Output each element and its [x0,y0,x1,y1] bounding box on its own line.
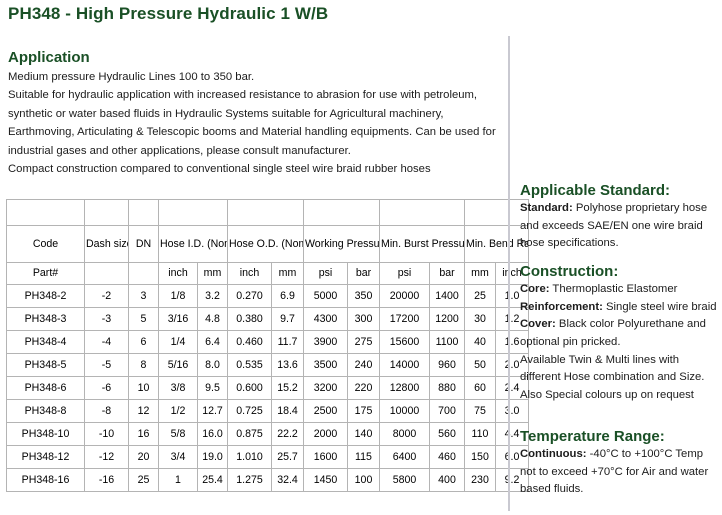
specification-table: Code Dash size DN Hose I.D. (Nom.) Hose … [6,199,529,492]
table-cell: -2 [85,285,129,308]
column-divider [508,36,510,511]
table-cell: 150 [465,446,496,469]
table-cell: 0.725 [228,400,272,423]
table-cell: 1200 [430,308,465,331]
applicable-standard-body: Standard: Polyhose proprietary hose and … [520,200,720,253]
table-cell: 1400 [430,285,465,308]
reinforcement-label: Reinforcement: [520,301,603,313]
table-cell: 5800 [380,469,430,492]
table-row: PH348-6-6103/89.50.60015.232002201280088… [7,377,529,400]
table-cell: 3200 [304,377,348,400]
table-cell: 1/2 [159,400,198,423]
table-cell: 3/4 [159,446,198,469]
table-cell: 5/8 [159,423,198,446]
construction-extra-1: Available Twin & Multi lines with differ… [520,352,720,387]
spacer-cell [380,200,465,226]
table-head: Code Dash size DN Hose I.D. (Nom.) Hose … [7,200,529,285]
table-cell: 6.4 [198,331,228,354]
construction-block: Construction: Core: Thermoplastic Elasto… [520,263,720,404]
reinforcement-text: Single steel wire braid [603,301,717,313]
table-cell: -4 [85,331,129,354]
table-row: PH348-8-8121/212.70.72518.42500175100007… [7,400,529,423]
table-row: PH348-10-10165/816.00.87522.220001408000… [7,423,529,446]
table-row: PH348-5-585/168.00.53513.635002401400096… [7,354,529,377]
table-cell: 0.535 [228,354,272,377]
column-header-code: Code [7,226,85,263]
right-column: Applicable Standard: Standard: Polyhose … [515,0,722,515]
spacer-cell [129,200,159,226]
table-cell: 12 [129,400,159,423]
table-cell: 13.6 [272,354,304,377]
table-cell: 8000 [380,423,430,446]
table-cell: 240 [348,354,380,377]
table-cell: 16 [129,423,159,446]
unit-header: inch [159,263,198,285]
table-cell: 3/16 [159,308,198,331]
table-cell: 6 [129,331,159,354]
table-cell: 8 [129,354,159,377]
table-cell: -12 [85,446,129,469]
table-cell: -3 [85,308,129,331]
table-cell: 17200 [380,308,430,331]
cell-part-code: PH348-10 [7,423,85,446]
unit-header: psi [380,263,430,285]
table-cell: 9.7 [272,308,304,331]
table-cell: -8 [85,400,129,423]
table-cell: 5000 [304,285,348,308]
table-cell: 3500 [304,354,348,377]
table-spacer-row [7,200,529,226]
table-cell: 2000 [304,423,348,446]
application-line-2: Suitable for hydraulic application with … [8,86,502,160]
table-cell: 20 [129,446,159,469]
core-text: Thermoplastic Elastomer [550,283,678,295]
temperature-range-block: Temperature Range: Continuous: -40°C to … [520,428,720,499]
datasheet-page: PH348 - High Pressure Hydraulic 1 W/B Ap… [0,0,722,515]
table-cell: 460 [430,446,465,469]
table-units-row: Part# inch mm inch mm psi bar psi bar mm… [7,263,529,285]
table-cell: 115 [348,446,380,469]
column-header-dn: DN [129,226,159,263]
table-cell: 25 [465,285,496,308]
table-cell: 6400 [380,446,430,469]
table-cell: 0.460 [228,331,272,354]
table-cell: 880 [430,377,465,400]
table-row: PH348-16-1625125.41.27532.41450100580040… [7,469,529,492]
application-line-1: Medium pressure Hydraulic Lines 100 to 3… [8,68,502,86]
table-cell: 4300 [304,308,348,331]
cell-part-code: PH348-6 [7,377,85,400]
unit-header: mm [465,263,496,285]
table-cell: 15.2 [272,377,304,400]
table-cell: 9.5 [198,377,228,400]
table-cell: 100 [348,469,380,492]
construction-extra-2: Also Special colours up on request [520,387,720,405]
table-cell: 14000 [380,354,430,377]
cell-part-code: PH348-12 [7,446,85,469]
table-cell: 25.4 [198,469,228,492]
table-cell: -6 [85,377,129,400]
cell-part-code: PH348-2 [7,285,85,308]
table-cell: 1/8 [159,285,198,308]
table-cell: 1.275 [228,469,272,492]
table-cell: 10 [129,377,159,400]
table-cell: 10000 [380,400,430,423]
table-cell: 60 [465,377,496,400]
unit-header [129,263,159,285]
unit-header: mm [272,263,304,285]
standard-label: Standard: [520,202,573,214]
temperature-range-heading: Temperature Range: [520,428,720,445]
table-cell: 8.0 [198,354,228,377]
table-cell: 3 [129,285,159,308]
table-cell: 560 [430,423,465,446]
temperature-range-body: Continuous: -40°C to +100°C Temp not to … [520,446,720,499]
table-cell: 25.7 [272,446,304,469]
table-cell: 0.875 [228,423,272,446]
table-cell: 6.9 [272,285,304,308]
table-cell: 3.2 [198,285,228,308]
table-cell: 16.0 [198,423,228,446]
table-cell: 32.4 [272,469,304,492]
table-row: PH348-12-12203/419.01.01025.716001156400… [7,446,529,469]
table-cell: 960 [430,354,465,377]
left-column: PH348 - High Pressure Hydraulic 1 W/B Ap… [0,0,508,515]
column-header-hose-id: Hose I.D. (Nom.) [159,226,228,263]
unit-header: bar [348,263,380,285]
table-cell: 20000 [380,285,430,308]
table-cell: 1.010 [228,446,272,469]
column-header-dash-size: Dash size [85,226,129,263]
table-cell: 5/16 [159,354,198,377]
table-cell: 230 [465,469,496,492]
table-cell: 3900 [304,331,348,354]
table-cell: 1100 [430,331,465,354]
column-header-min-burst-pressure: Min. Burst Pressure [380,226,465,263]
spacer-cell [228,200,304,226]
table-row: PH348-4-461/46.40.46011.7390027515600110… [7,331,529,354]
table-cell: 12.7 [198,400,228,423]
table-cell: 400 [430,469,465,492]
table-row: PH348-2-231/83.20.2706.95000350200001400… [7,285,529,308]
cover-label: Cover: [520,318,556,330]
table-cell: 275 [348,331,380,354]
cell-part-code: PH348-5 [7,354,85,377]
table-cell: 18.4 [272,400,304,423]
table-cell: 220 [348,377,380,400]
table-cell: 0.600 [228,377,272,400]
table-cell: 0.270 [228,285,272,308]
table-cell: 25 [129,469,159,492]
table-cell: 5 [129,308,159,331]
table-cell: 4.8 [198,308,228,331]
column-header-working-pressure: Working Pressure [304,226,380,263]
table-cell: 0.380 [228,308,272,331]
table-cell: 1450 [304,469,348,492]
table-cell: 300 [348,308,380,331]
application-line-3: Compact construction compared to convent… [8,160,502,178]
table-cell: -5 [85,354,129,377]
cell-part-code: PH348-4 [7,331,85,354]
table-cell: 1/4 [159,331,198,354]
spacer-cell [159,200,228,226]
applicable-standard-block: Applicable Standard: Standard: Polyhose … [520,182,720,253]
construction-heading: Construction: [520,263,720,280]
table-cell: 30 [465,308,496,331]
spacer-cell [7,200,85,226]
table-row: PH348-3-353/164.80.3809.7430030017200120… [7,308,529,331]
table-cell: 15600 [380,331,430,354]
table-cell: 40 [465,331,496,354]
applicable-standard-heading: Applicable Standard: [520,182,720,199]
cell-part-code: PH348-3 [7,308,85,331]
construction-body: Core: Thermoplastic Elastomer Reinforcem… [520,281,720,404]
unit-header: Part# [7,263,85,285]
table-group-header-row: Code Dash size DN Hose I.D. (Nom.) Hose … [7,226,529,263]
table-cell: -16 [85,469,129,492]
table-cell: 2500 [304,400,348,423]
specification-table-container: Code Dash size DN Hose I.D. (Nom.) Hose … [6,199,488,492]
table-cell: 3/8 [159,377,198,400]
spacer-cell [304,200,380,226]
table-cell: 50 [465,354,496,377]
page-title: PH348 - High Pressure Hydraulic 1 W/B [8,4,328,24]
application-heading: Application [8,49,90,66]
table-cell: 1 [159,469,198,492]
unit-header: psi [304,263,348,285]
table-cell: 175 [348,400,380,423]
table-cell: 75 [465,400,496,423]
table-cell: -10 [85,423,129,446]
table-cell: 12800 [380,377,430,400]
spacer-cell [85,200,129,226]
column-header-hose-od: Hose O.D. (Nom.) [228,226,304,263]
continuous-label: Continuous: [520,448,587,460]
table-cell: 1600 [304,446,348,469]
table-cell: 700 [430,400,465,423]
unit-header: bar [430,263,465,285]
core-label: Core: [520,283,550,295]
table-cell: 19.0 [198,446,228,469]
cell-part-code: PH348-16 [7,469,85,492]
table-cell: 350 [348,285,380,308]
unit-header [85,263,129,285]
table-cell: 140 [348,423,380,446]
cell-part-code: PH348-8 [7,400,85,423]
table-body: PH348-2-231/83.20.2706.95000350200001400… [7,285,529,492]
unit-header: inch [228,263,272,285]
unit-header: mm [198,263,228,285]
application-body: Medium pressure Hydraulic Lines 100 to 3… [8,68,502,178]
table-cell: 22.2 [272,423,304,446]
table-cell: 11.7 [272,331,304,354]
table-cell: 110 [465,423,496,446]
